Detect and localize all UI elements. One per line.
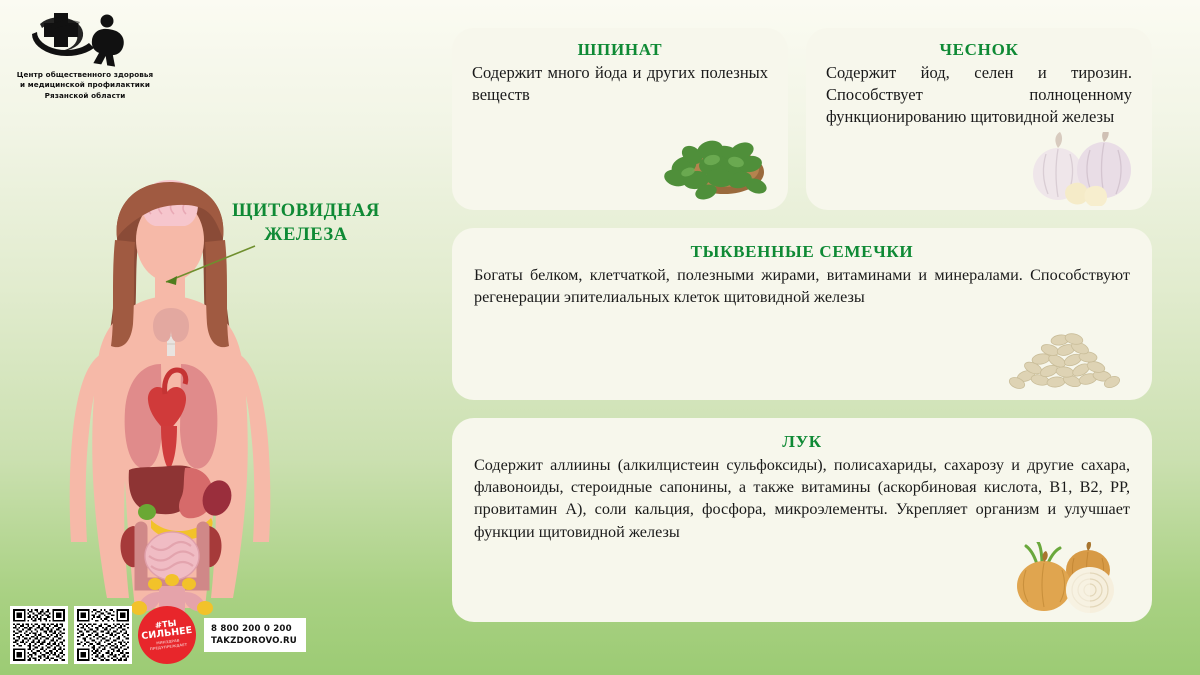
qr-code-right[interactable] xyxy=(74,606,132,664)
food-card-onion: ЛУК Содержит аллиины (алкилцистеин сульф… xyxy=(452,418,1152,622)
food-card-pumpkin-seeds: ТЫКВЕННЫЕ СЕМЕЧКИ Богаты белком, клетчат… xyxy=(452,228,1152,400)
food-card-garlic: ЧЕСНОК Содержит йод, селен и тирозин. Сп… xyxy=(806,28,1152,210)
website-url[interactable]: TAKZDOROVO.RU xyxy=(211,635,297,647)
qr-code-icon xyxy=(13,609,65,661)
thyroid-gland-label: ЩИТОВИДНАЯ ЖЕЛЕЗА xyxy=(213,200,399,247)
qr-code-left[interactable] xyxy=(10,606,68,664)
hotline-phone: 8 800 200 0 200 xyxy=(211,623,297,635)
ty-silnee-badge[interactable]: #ТЫ СИЛЬНЕЕ МИНЗДРАВ ПРЕДУПРЕЖДАЕТ xyxy=(135,603,200,668)
card-body-garlic: Содержит йод, селен и тирозин. Способств… xyxy=(826,62,1132,128)
logo-mark-icon xyxy=(10,8,160,70)
card-body-pumpkin-seeds: Богаты белком, клетчаткой, полезными жир… xyxy=(474,264,1130,308)
food-card-spinach: ШПИНАТ Содержит много йода и других поле… xyxy=(452,28,788,210)
card-title-pumpkin-seeds: ТЫКВЕННЫЕ СЕМЕЧКИ xyxy=(474,242,1130,262)
garlic-photo xyxy=(1022,132,1136,206)
pumpkin-seeds-photo xyxy=(1006,326,1124,392)
card-body-spinach: Содержит много йода и других полезных ве… xyxy=(472,62,768,106)
spinach-photo xyxy=(648,122,772,202)
logo-text-line-1: Центр общественного здоровья xyxy=(10,70,160,80)
contact-info-plate: 8 800 200 0 200 TAKZDOROVO.RU xyxy=(204,618,306,652)
logo-text-line-2: и медицинской профилактики xyxy=(10,80,160,90)
card-title-onion: ЛУК xyxy=(474,432,1130,452)
organization-logo: Центр общественного здоровья и медицинск… xyxy=(10,8,160,101)
onion-photo xyxy=(1002,542,1126,616)
thyroid-pointer-line xyxy=(150,240,260,300)
thyroid-label-line-2: ЖЕЛЕЗА xyxy=(213,224,399,248)
footer-contacts-bar: #ТЫ СИЛЬНЕЕ МИНЗДРАВ ПРЕДУПРЕЖДАЕТ 8 800… xyxy=(10,604,306,666)
card-title-garlic: ЧЕСНОК xyxy=(826,40,1132,60)
qr-code-icon xyxy=(77,609,129,661)
card-body-onion: Содержит аллиины (алкилцистеин сульфокси… xyxy=(474,454,1130,543)
card-title-spinach: ШПИНАТ xyxy=(472,40,768,60)
logo-text-line-3: Рязанской области xyxy=(10,91,160,101)
thyroid-label-line-1: ЩИТОВИДНАЯ xyxy=(213,200,399,224)
